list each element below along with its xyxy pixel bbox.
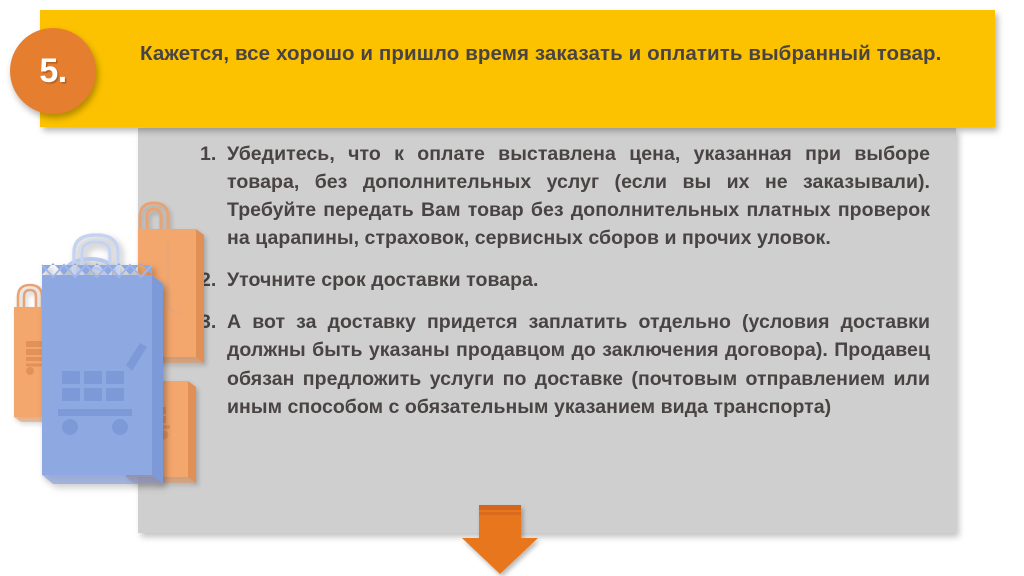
step-number-badge: 5. xyxy=(10,28,96,114)
content-panel: Убедитесь, что к оплате выставлена цена,… xyxy=(138,128,956,533)
step-number-label: 5. xyxy=(10,28,96,114)
shopping-bags-icon xyxy=(0,185,210,500)
list-item: Уточните срок доставки товара. xyxy=(200,266,930,294)
down-arrow-icon[interactable] xyxy=(445,503,555,576)
list-item: Убедитесь, что к оплате выставлена цена,… xyxy=(200,140,930,252)
shopping-bag-blue xyxy=(42,235,163,484)
slide-canvas: Убедитесь, что к оплате выставлена цена,… xyxy=(0,0,1024,576)
steps-list: Убедитесь, что к оплате выставлена цена,… xyxy=(200,140,930,421)
page-title: Кажется, все хорошо и пришло время заказ… xyxy=(140,38,968,69)
header-banner: Кажется, все хорошо и пришло время заказ… xyxy=(40,10,995,127)
list-item: А вот за доставку придется заплатить отд… xyxy=(200,308,930,420)
